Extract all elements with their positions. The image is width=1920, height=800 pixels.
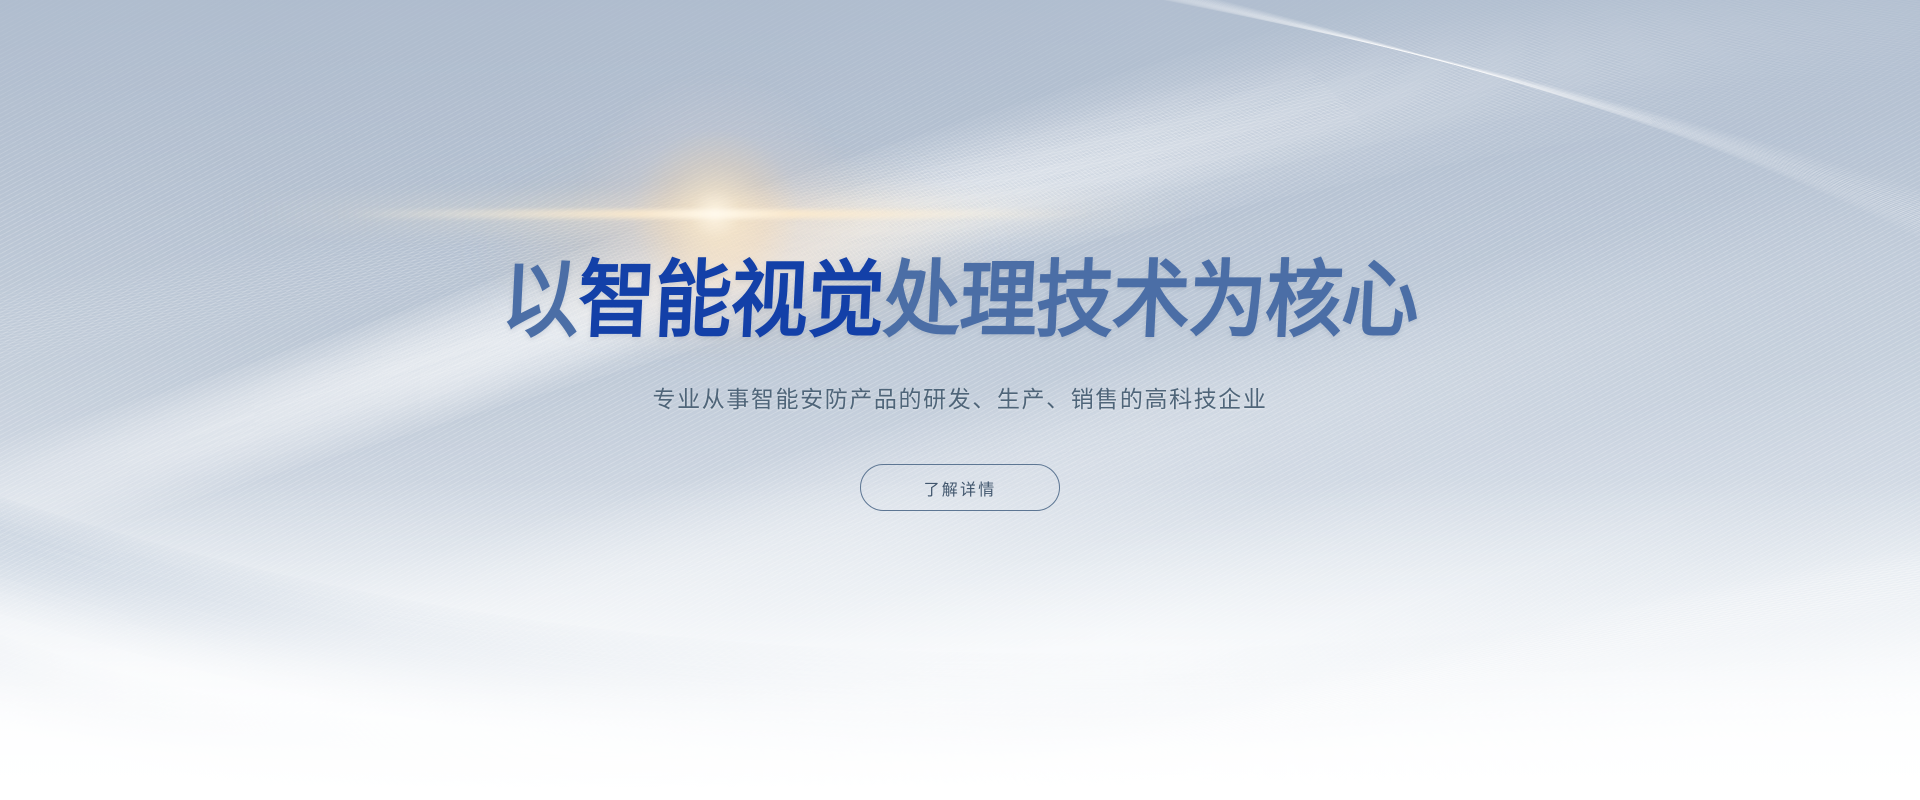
headline-segment-1: 以 [499,251,580,349]
headline-segment-2: 智能视觉 [576,251,886,349]
page-title: 以智能视觉处理技术为核心 [500,258,1420,342]
learn-more-button[interactable]: 了解详情 [860,464,1060,511]
headline-segment-3: 处理技术为核心 [881,251,1420,349]
hero-banner: 以智能视觉处理技术为核心 专业从事智能安防产品的研发、生产、销售的高科技企业 了… [0,0,1920,800]
hero-content: 以智能视觉处理技术为核心 专业从事智能安防产品的研发、生产、销售的高科技企业 了… [0,0,1920,800]
page-subtitle: 专业从事智能安防产品的研发、生产、销售的高科技企业 [653,380,1268,414]
